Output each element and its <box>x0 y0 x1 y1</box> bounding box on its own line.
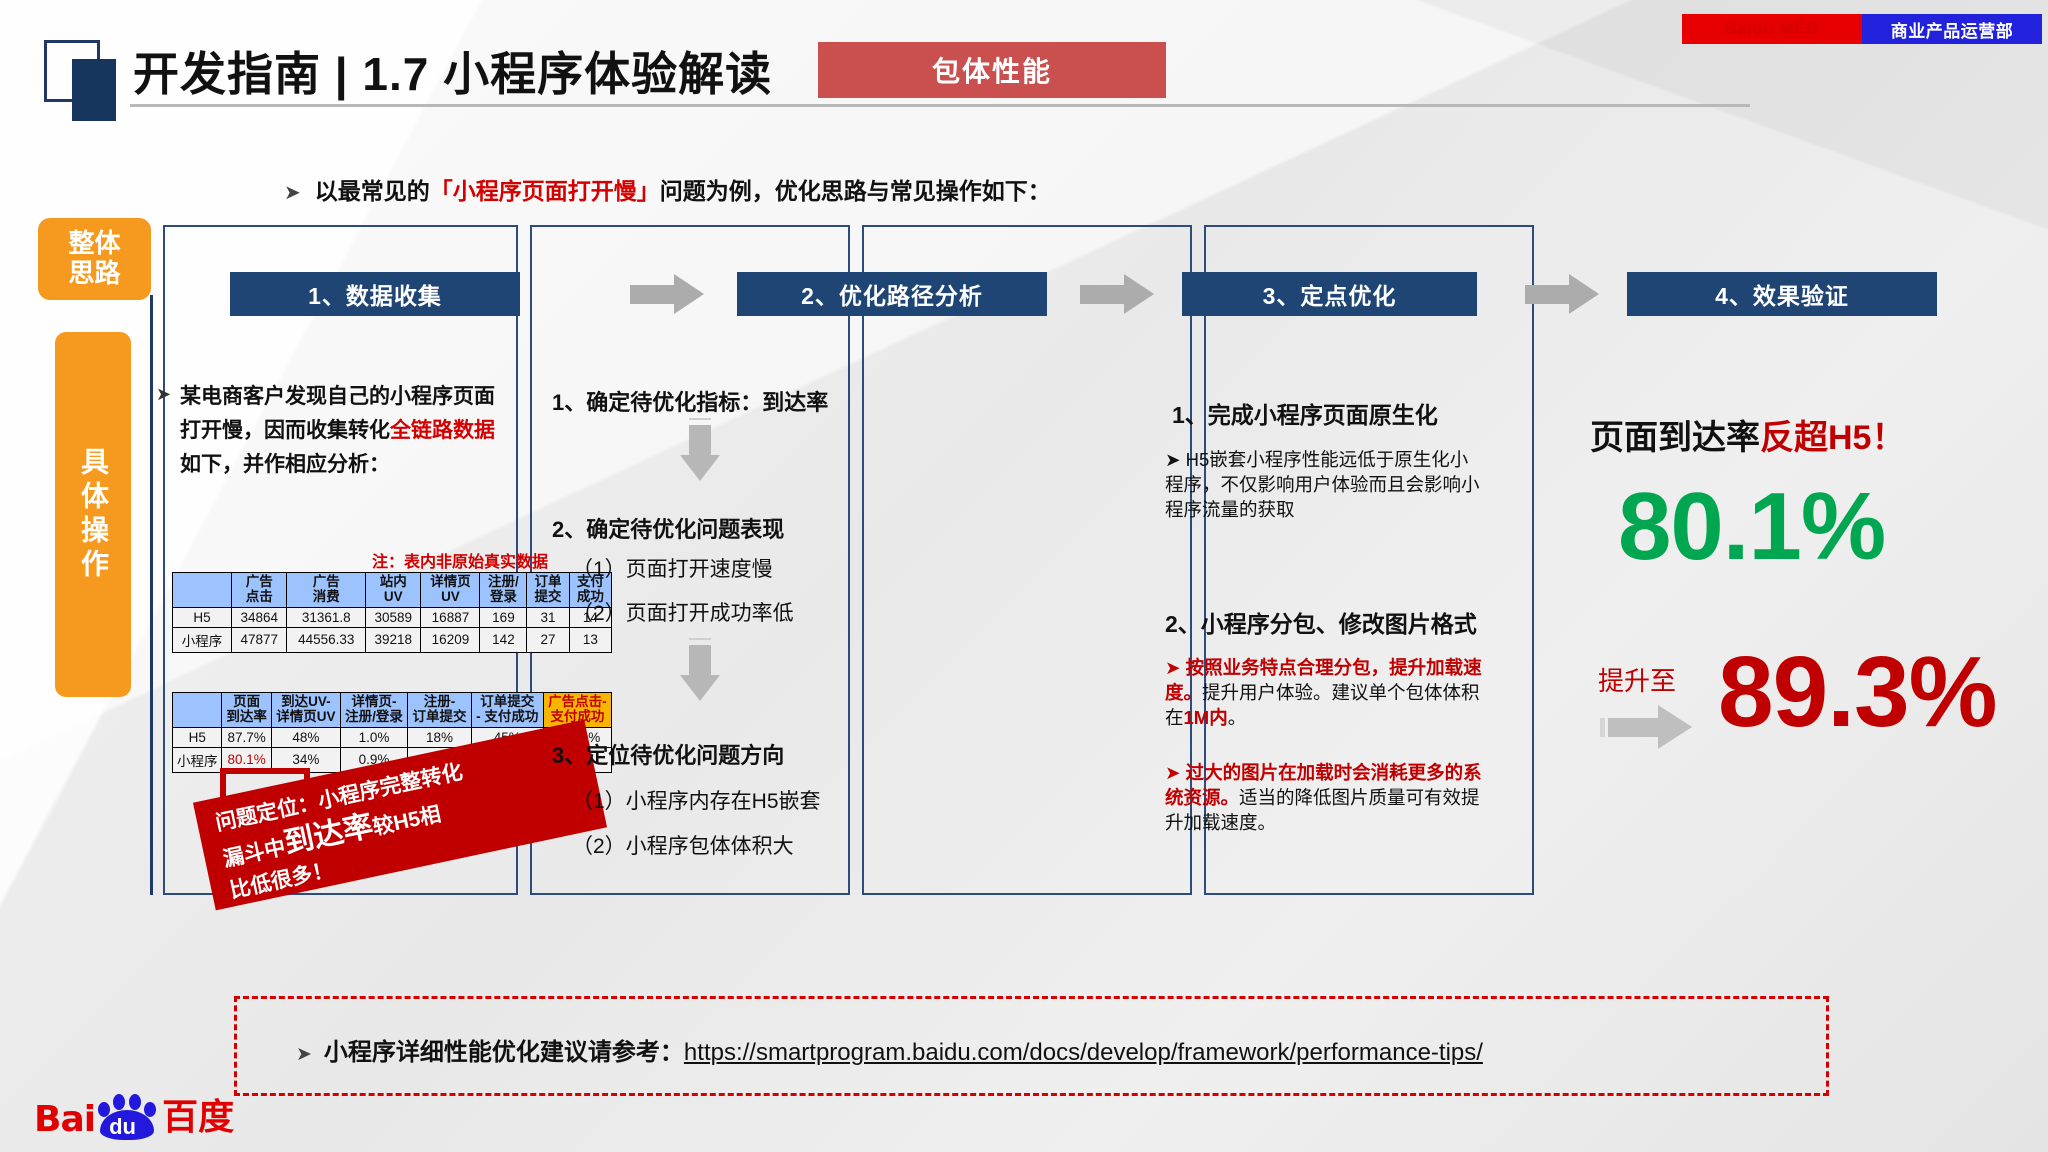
section-banner-label: 包体性能 <box>932 50 1052 90</box>
table-body: H53486431361.830589168871693114小程序478774… <box>173 607 612 652</box>
baidu-logo-zh: 百度 <box>162 1088 234 1140</box>
col3-bullet-2-icon: ➤ <box>1165 657 1181 678</box>
page-title: 开发指南 | 1.7 小程序体验解读 <box>133 38 772 104</box>
col2-item-3-2: （2）小程序包体体积大 <box>572 830 794 860</box>
baidu-logo-du: du <box>109 1114 136 1140</box>
table-row-label: H5 <box>173 727 222 747</box>
step-button-4[interactable]: 4、效果验证 <box>1627 272 1937 316</box>
header-badges: Baidu MEG 商业产品运营部 <box>1682 14 2042 44</box>
table-col-header: 订单提交- 支付成功 <box>471 693 543 728</box>
table-col-header <box>173 693 222 728</box>
baidu-logo: Bai du 百度 <box>34 1092 234 1140</box>
table-col-header: 页面到达率 <box>222 693 271 728</box>
step-button-4-label: 4、效果验证 <box>1715 277 1849 311</box>
col1-intro-text: ➤ 某电商客户发现自己的小程序页面 打开慢，因而收集转化全链路数据 如下，并作相… <box>180 380 510 482</box>
col3-bullet-3-icon: ➤ <box>1165 762 1181 783</box>
table-cell: 31361.8 <box>287 607 366 627</box>
col4-headline: 页面到达率反超H5！ <box>1590 410 1905 459</box>
footer-bullet-icon: ➤ <box>296 1044 312 1065</box>
table-row: 小程序4787744556.3339218162091422713 <box>173 627 612 652</box>
step-button-1[interactable]: 1、数据收集 <box>230 272 520 316</box>
subtitle-pre: 以最常见的 <box>315 178 430 204</box>
table-col-header: 站内UV <box>366 573 421 608</box>
table-col-header: 注册-订单提交 <box>408 693 471 728</box>
table-cell: 169 <box>480 607 527 627</box>
col2-item-2-1: （1）页面打开速度慢 <box>572 553 773 583</box>
table-col-header: 广告消费 <box>287 573 366 608</box>
sidebar-tab-overall[interactable]: 整体 思路 <box>38 218 151 300</box>
step-button-3-label: 3、定点优化 <box>1263 277 1397 311</box>
metric-after-value: 89.3% <box>1718 635 1997 750</box>
step-button-1-label: 1、数据收集 <box>308 277 442 311</box>
uplift-label: 提升至 <box>1598 661 1676 698</box>
col3-para-2-red2: 1M内 <box>1184 707 1228 728</box>
flow-arrow-3-icon <box>1525 274 1599 314</box>
flow-arrow-1-icon <box>630 274 704 314</box>
col3-bullet-1-icon: ➤ <box>1165 449 1181 470</box>
col2-heading-3: 3、定位待优化问题方向 <box>552 738 784 770</box>
table-row: H53486431361.830589168871693114 <box>173 607 612 627</box>
col3-para-2-tail: 。 <box>1228 707 1247 728</box>
table-cell: 34864 <box>232 607 287 627</box>
col1-intro-line2-red: 全链路数据 <box>390 419 495 442</box>
table-cell: 30589 <box>366 607 421 627</box>
col2-item-3-1: （1）小程序内存在H5嵌套 <box>572 785 821 815</box>
col4-headline-black: 页面到达率 <box>1590 419 1760 457</box>
footer-text: ➤小程序详细性能优化建议请参考：https://smartprogram.bai… <box>296 1032 1483 1067</box>
table-col-header: 详情页UV <box>421 573 480 608</box>
sidebar-tab-detail-label: 具体操作 <box>73 447 113 583</box>
table-header-row: 广告点击广告消费站内UV详情页UV注册/登录订单提交支付成功 <box>173 573 612 608</box>
uplift-arrow-icon <box>1600 705 1700 749</box>
sidebar-tab-overall-line1: 整体 <box>68 229 120 259</box>
baidu-paw-icon: du <box>96 1094 158 1140</box>
subtitle-post: 问题为例，优化思路与常见操作如下： <box>660 178 1051 204</box>
slide-canvas: Baidu MEG 商业产品运营部 开发指南 | 1.7 小程序体验解读 包体性… <box>0 0 2048 1152</box>
sidebar-tab-detail[interactable]: 具体操作 <box>55 332 131 697</box>
col1-intro-line2-pre: 打开慢，因而收集转化 <box>180 419 390 442</box>
col1-intro-line1: 某电商客户发现自己的小程序页面 <box>180 380 510 414</box>
col1-bullet-icon: ➤ <box>156 380 171 409</box>
badge-department: 商业产品运营部 <box>1862 14 2042 44</box>
table-cell: 47877 <box>232 627 287 652</box>
table-col-header: 详情页-注册/登录 <box>340 693 407 728</box>
flow-arrow-2-icon <box>1080 274 1154 314</box>
col3-para-1: ➤ H5嵌套小程序性能远低于原生化小程序，不仅影响用户体验而且会影响小程序流量的… <box>1165 447 1485 522</box>
panel-step-3 <box>862 225 1192 895</box>
col4-headline-red: 反超H5！ <box>1760 419 1905 457</box>
table-col-header: 到达UV-详情页UV <box>271 693 340 728</box>
step-button-3[interactable]: 3、定点优化 <box>1182 272 1477 316</box>
table-cell: 39218 <box>366 627 421 652</box>
col3-para-2: ➤ 按照业务特点合理分包，提升加载速度。提升用户体验。建议单个包体体积在1M内。 <box>1165 655 1485 730</box>
sidebar-divider <box>150 295 153 895</box>
table-row-label: 小程序 <box>173 627 232 652</box>
section-banner: 包体性能 <box>818 42 1166 98</box>
table-cell: 142 <box>480 627 527 652</box>
table-row-label: 小程序 <box>173 747 222 772</box>
table-cell: 31 <box>527 607 569 627</box>
table-cell: 87.7% <box>222 727 271 747</box>
table-col-header <box>173 573 232 608</box>
col3-para-1-text: H5嵌套小程序性能远低于原生化小程序，不仅影响用户体验而且会影响小程序流量的获取 <box>1165 449 1480 520</box>
table-cell: 18% <box>408 727 471 747</box>
table-col-header: 订单提交 <box>527 573 569 608</box>
table-cell: 16209 <box>421 627 480 652</box>
stamp-line2-post: 较H5相 <box>371 803 443 840</box>
col2-item-2-2: （2）页面打开成功率低 <box>572 597 794 627</box>
table-header-row: 页面到达率到达UV-详情页UV详情页-注册/登录注册-订单提交订单提交- 支付成… <box>173 693 612 728</box>
col2-heading-1: 1、确定待优化指标：到达率 <box>552 385 828 417</box>
funnel-count-table: 广告点击广告消费站内UV详情页UV注册/登录订单提交支付成功 H53486431… <box>172 572 612 653</box>
subtitle-line: ➤以最常见的「小程序页面打开慢」问题为例，优化思路与常见操作如下： <box>284 172 1051 206</box>
table-row-label: H5 <box>173 607 232 627</box>
baidu-logo-bai: Bai <box>34 1099 95 1140</box>
sidebar-tab-overall-line2: 思路 <box>68 259 120 289</box>
table-cell: 27 <box>527 627 569 652</box>
table-cell: 13 <box>569 627 611 652</box>
table-col-header: 广告点击 <box>232 573 287 608</box>
table-cell: 44556.33 <box>287 627 366 652</box>
table-cell: 16887 <box>421 607 480 627</box>
col3-heading-2: 2、小程序分包、修改图片格式 <box>1165 605 1477 639</box>
badge-baidu-meg: Baidu MEG <box>1682 14 1862 44</box>
subtitle-highlight: 「小程序页面打开慢」 <box>430 178 660 204</box>
footer-label: 小程序详细性能优化建议请参考： <box>324 1039 684 1066</box>
docs-link[interactable]: https://smartprogram.baidu.com/docs/deve… <box>684 1039 1483 1066</box>
col3-heading-1: 1、完成小程序页面原生化 <box>1172 396 1438 430</box>
title-square-filled-icon <box>72 59 116 121</box>
col1-intro-line2: 打开慢，因而收集转化全链路数据 <box>180 414 510 448</box>
col1-intro-line3: 如下，并作相应分析： <box>180 448 510 482</box>
col1-table-note: 注：表内非原始真实数据 <box>372 548 548 572</box>
table-cell: 1.0% <box>340 727 407 747</box>
metric-before-value: 80.1% <box>1618 472 1885 582</box>
step-button-2-label: 2、优化路径分析 <box>801 277 983 311</box>
col2-heading-2: 2、确定待优化问题表现 <box>552 512 784 544</box>
step-button-2[interactable]: 2、优化路径分析 <box>737 272 1047 316</box>
table-col-header: 注册/登录 <box>480 573 527 608</box>
header-divider <box>130 104 1750 107</box>
col3-para-3: ➤ 过大的图片在加载时会消耗更多的系统资源。适当的降低图片质量可有效提升加载速度… <box>1165 760 1485 835</box>
bullet-arrow-icon: ➤ <box>284 182 301 204</box>
table-cell: 48% <box>271 727 340 747</box>
